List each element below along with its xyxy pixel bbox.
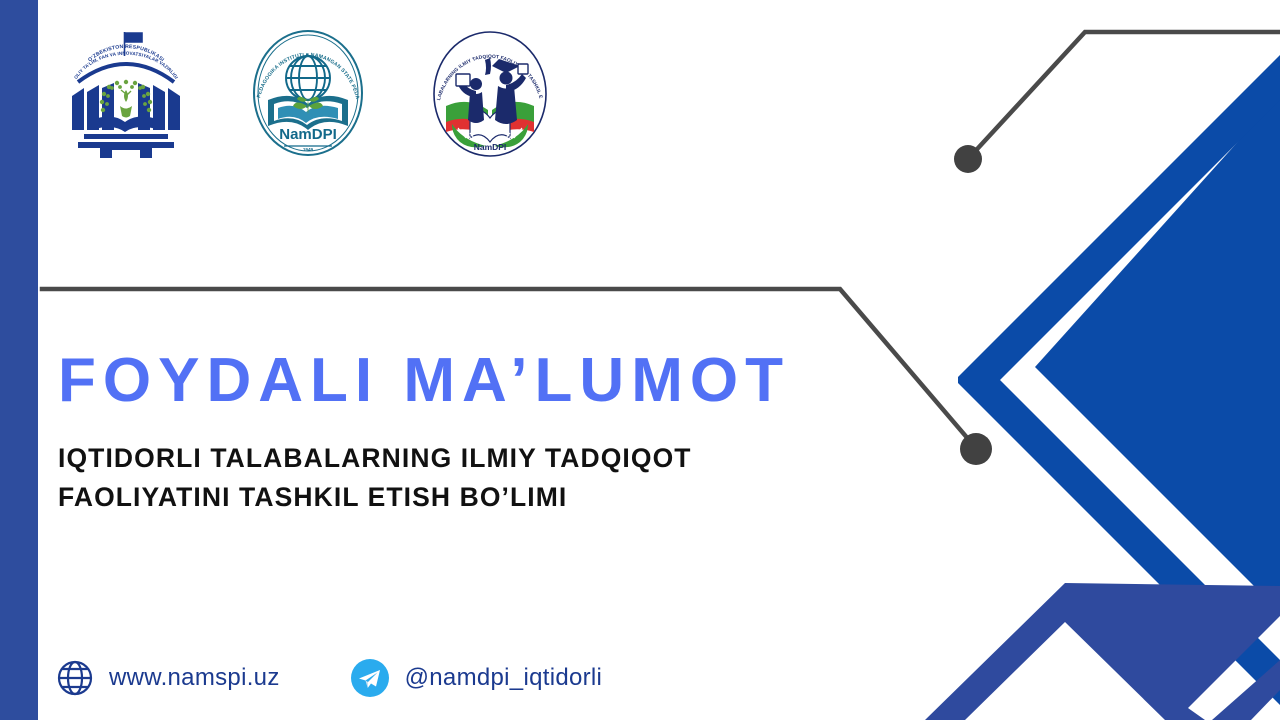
top-connector-dot <box>954 145 982 173</box>
page-subtitle: IQTIDORLI TALABALARNING ILMIY TADQIQOT F… <box>58 439 838 517</box>
iqtidorli-talabalar-sector-logo: IQTIDORLI TALABALARNING ILMIY TADQIQOT F… <box>426 26 554 160</box>
ministry-of-higher-education-logo: O‘ZBEKISTON RESPUBLIKASI OLIY TA’LIM, FA… <box>62 26 190 160</box>
title-block: FOYDALI MA’LUMOT IQTIDORLI TALABALARNING… <box>58 348 918 518</box>
namdpi-institute-logo: NAMANGAN DAVLAT PEDAGOGIKA INSTITUTI ■ N… <box>244 26 372 160</box>
middle-connector-dot <box>960 433 992 465</box>
slide-canvas: O‘ZBEKISTON RESPUBLIKASI OLIY TA’LIM, FA… <box>0 0 1280 720</box>
logo-row: O‘ZBEKISTON RESPUBLIKASI OLIY TA’LIM, FA… <box>62 26 554 160</box>
telegram-icon <box>350 658 390 698</box>
telegram-label: @namdpi_iqtidorli <box>405 664 603 692</box>
primary-blue-chevron-outline <box>958 55 1280 705</box>
globe-icon <box>56 659 94 697</box>
website-label: www.namspi.uz <box>109 664 280 692</box>
left-accent-bar <box>0 0 38 720</box>
svg-text:NamDPI: NamDPI <box>474 142 507 152</box>
website-contact[interactable]: www.namspi.uz <box>56 659 280 697</box>
footer-contacts: www.namspi.uz @namdpi_iqtidorli <box>56 658 602 698</box>
svg-text:1949: 1949 <box>303 147 314 152</box>
svg-text:NamDPI: NamDPI <box>279 126 337 143</box>
page-title: FOYDALI MA’LUMOT <box>58 348 918 413</box>
telegram-contact[interactable]: @namdpi_iqtidorli <box>350 658 603 698</box>
primary-blue-chevron <box>1035 95 1280 612</box>
secondary-blue-chevron-outline-2 <box>1212 660 1280 720</box>
top-connector-line <box>968 32 1280 159</box>
secondary-blue-chevron-outline <box>925 583 1280 720</box>
